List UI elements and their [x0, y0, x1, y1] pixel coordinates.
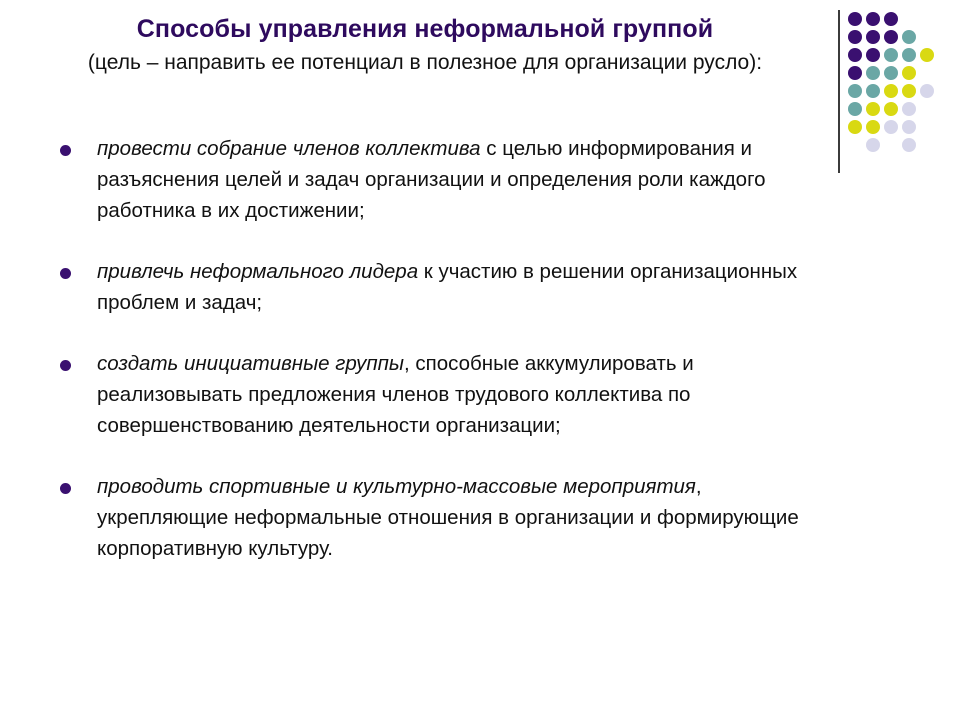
corner-decoration: [826, 0, 960, 185]
page-subtitle: (цель – направить ее потенциал в полезно…: [40, 50, 810, 76]
decoration-dot: [920, 48, 934, 62]
decoration-dot: [884, 84, 898, 98]
decoration-dot: [884, 12, 898, 26]
bullet-point-icon: [60, 268, 71, 279]
decoration-dot: [902, 84, 916, 98]
list-item-text: провести собрание членов коллектива с це…: [97, 133, 825, 226]
list-item-emphasis: привлечь неформального лидера: [97, 260, 418, 283]
decoration-dot: [848, 66, 862, 80]
decoration-dot: [902, 138, 916, 152]
decoration-dot: [902, 48, 916, 62]
decoration-dot: [866, 66, 880, 80]
decoration-dot: [884, 102, 898, 116]
decoration-dot: [884, 48, 898, 62]
title-block: Способы управления неформальной группой …: [40, 14, 810, 76]
decoration-dot: [902, 120, 916, 134]
list-item-text: проводить спортивные и культурно-массовы…: [97, 471, 825, 564]
decoration-dot: [866, 102, 880, 116]
decoration-dot: [902, 30, 916, 44]
bullet-point-icon: [60, 145, 71, 156]
decoration-dot: [848, 48, 862, 62]
slide-canvas: Способы управления неформальной группой …: [0, 0, 960, 720]
decoration-dot: [884, 30, 898, 44]
page-title: Способы управления неформальной группой: [40, 14, 810, 45]
vertical-divider-line: [838, 10, 840, 173]
bullet-point-icon: [60, 483, 71, 494]
decoration-dot: [866, 138, 880, 152]
decoration-dot: [902, 102, 916, 116]
list-item-text: создать инициативные группы, способные а…: [97, 348, 825, 441]
decoration-dot: [920, 84, 934, 98]
decoration-dot: [866, 12, 880, 26]
list-item-emphasis: создать инициативные группы: [97, 352, 404, 375]
decoration-dot: [866, 30, 880, 44]
bullet-list: провести собрание членов коллектива с це…: [55, 133, 825, 564]
decoration-dot: [866, 84, 880, 98]
list-item-text: привлечь неформального лидера к участию …: [97, 256, 825, 318]
decoration-dot: [866, 48, 880, 62]
decoration-dot: [848, 12, 862, 26]
decoration-dot: [848, 102, 862, 116]
decoration-dot: [848, 30, 862, 44]
decoration-dot: [902, 66, 916, 80]
decoration-dot: [884, 120, 898, 134]
bullet-point-icon: [60, 360, 71, 371]
decoration-dot: [866, 120, 880, 134]
list-item: проводить спортивные и культурно-массовы…: [55, 471, 825, 564]
list-item: создать инициативные группы, способные а…: [55, 348, 825, 441]
decoration-dot: [884, 66, 898, 80]
dot-grid-motif: [848, 12, 952, 164]
decoration-dot: [848, 120, 862, 134]
list-item: привлечь неформального лидера к участию …: [55, 256, 825, 318]
decoration-dot: [848, 84, 862, 98]
list-item-emphasis: провести собрание членов коллектива: [97, 137, 481, 160]
list-item-emphasis: проводить спортивные и культурно-массовы…: [97, 475, 696, 498]
list-item: провести собрание членов коллектива с це…: [55, 133, 825, 226]
